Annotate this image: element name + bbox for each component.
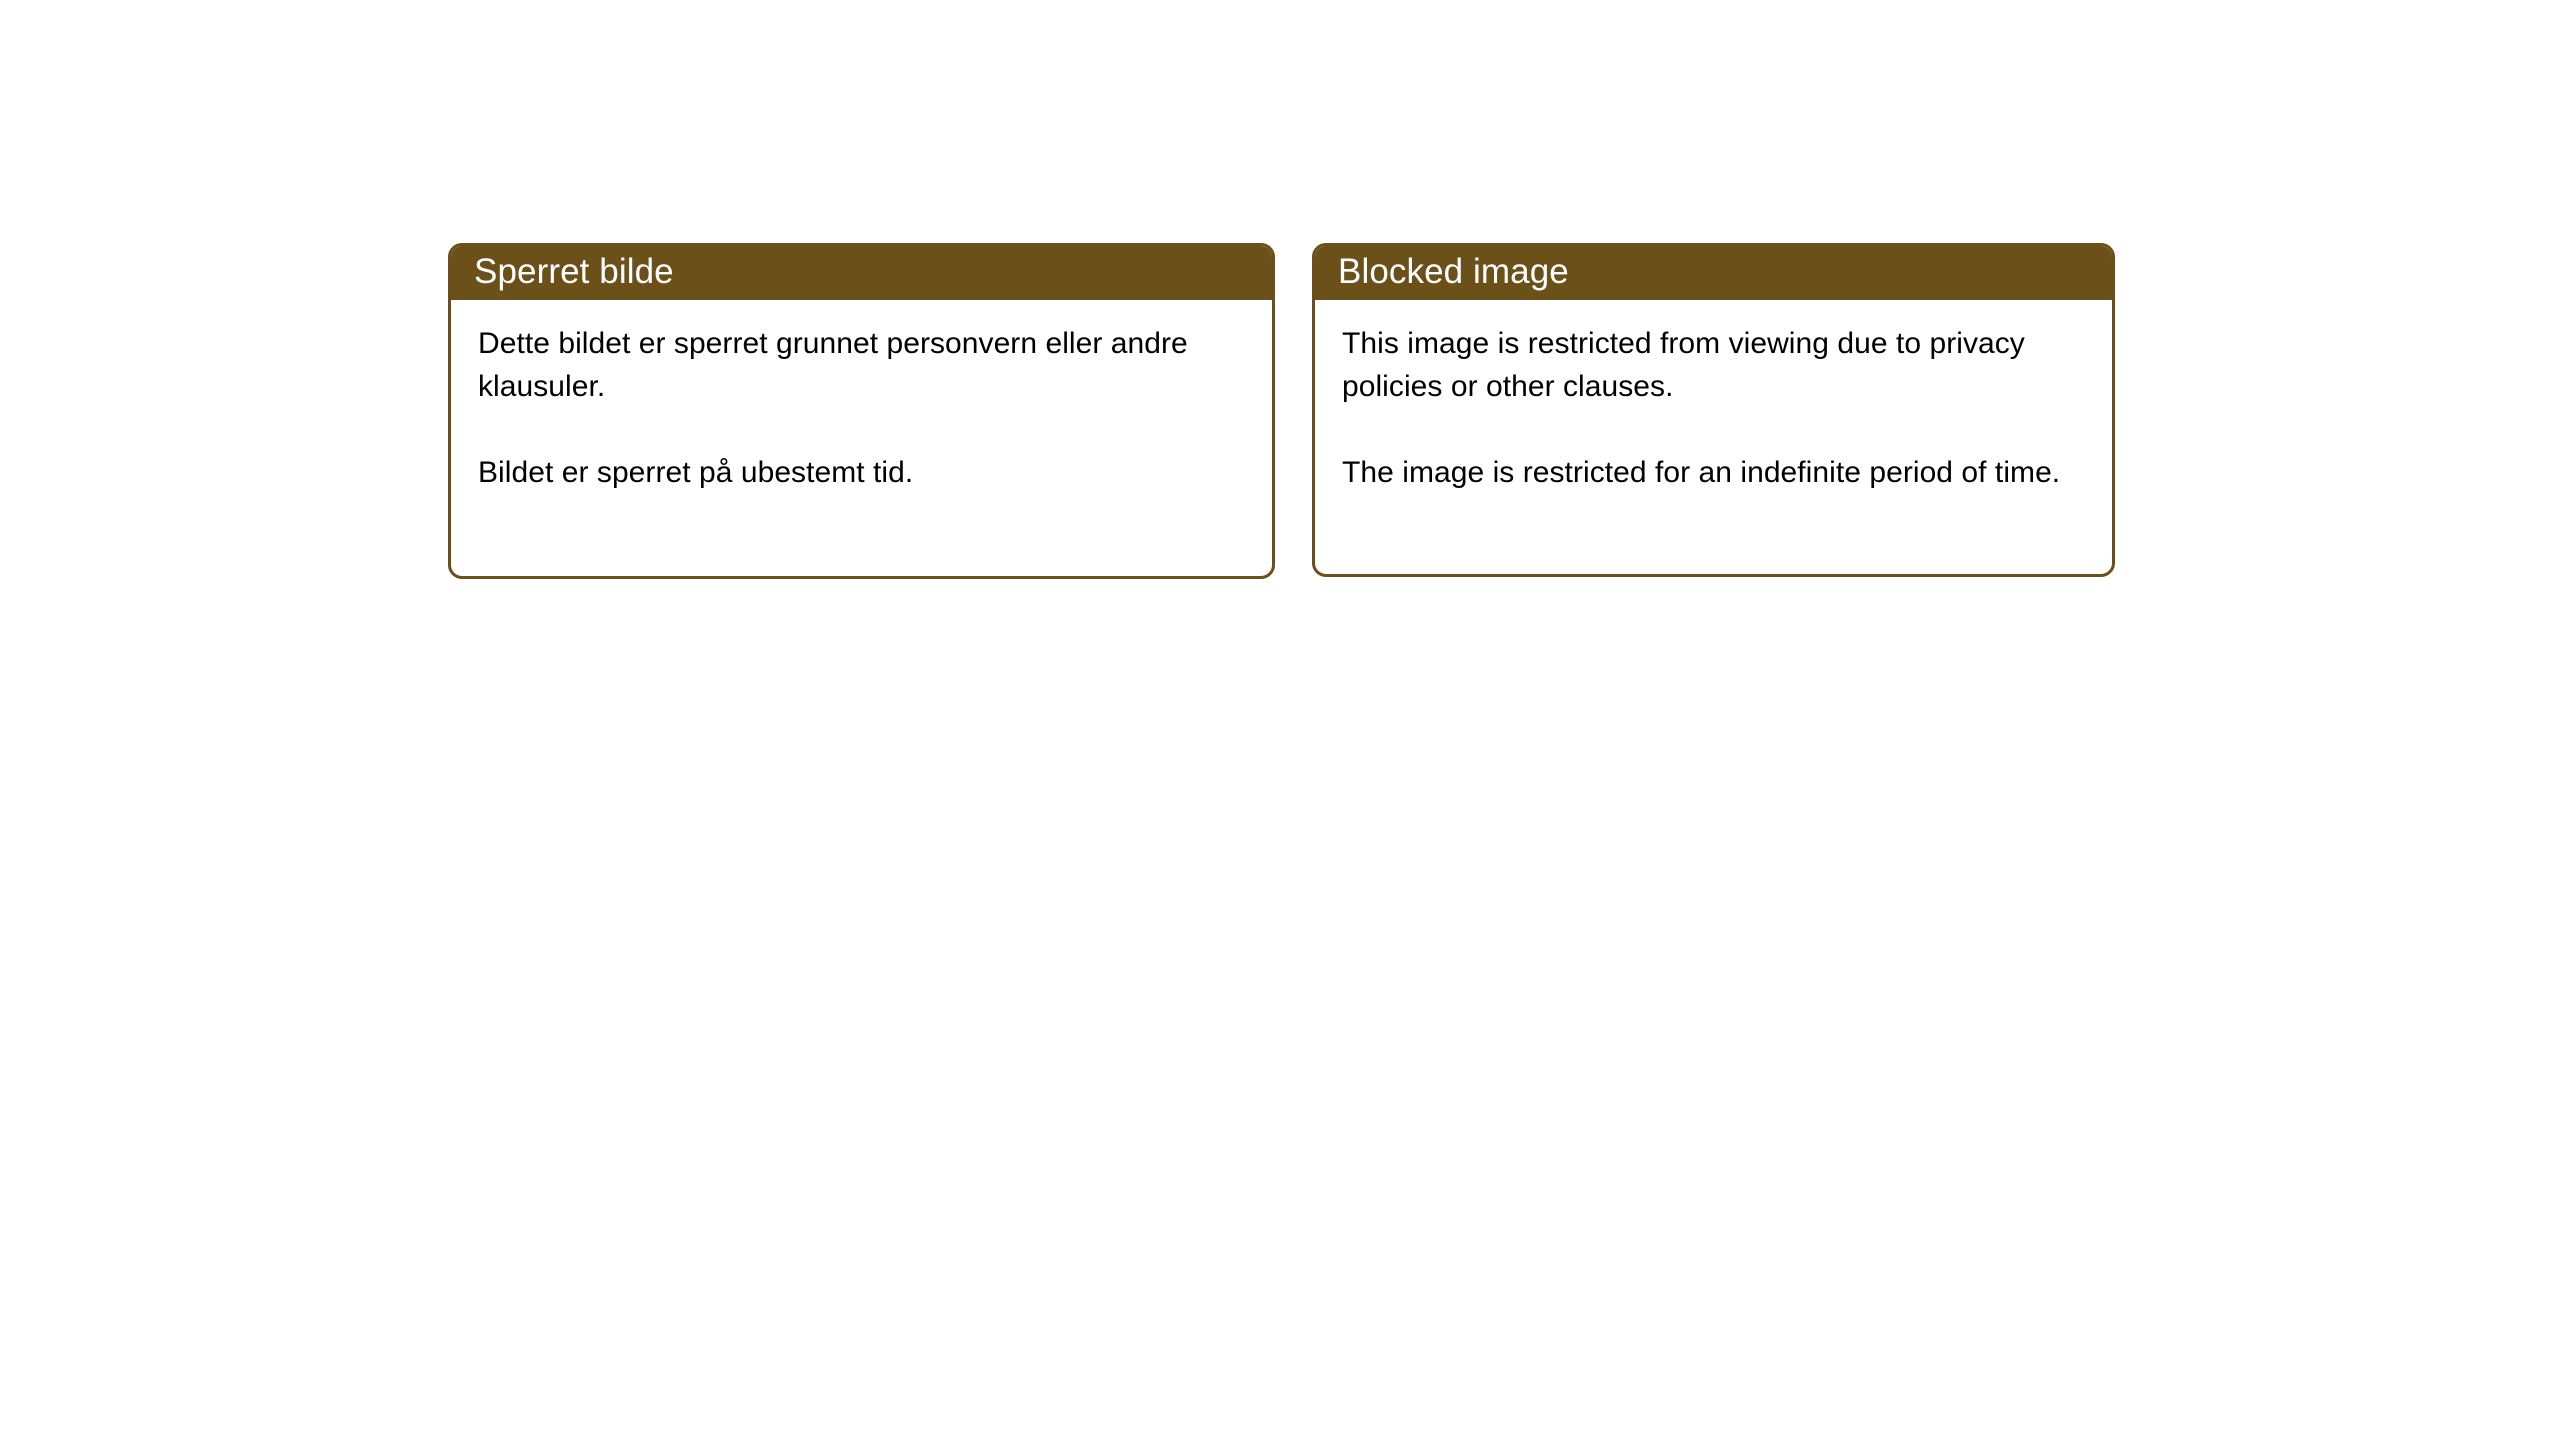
blocked-image-notice-card-english: Blocked image This image is restricted f…	[1312, 243, 2115, 577]
card-header-norwegian: Sperret bilde	[448, 243, 1275, 300]
card-header-english: Blocked image	[1312, 243, 2115, 300]
card-body-english: This image is restricted from viewing du…	[1315, 300, 2112, 494]
card-paragraph-primary-english: This image is restricted from viewing du…	[1342, 322, 2086, 408]
card-title-english: Blocked image	[1338, 252, 1569, 292]
card-body-norwegian: Dette bildet er sperret grunnet personve…	[451, 300, 1272, 494]
page-root: Sperret bilde Dette bildet er sperret gr…	[0, 0, 2560, 1440]
blocked-image-notice-card-norwegian: Sperret bilde Dette bildet er sperret gr…	[448, 243, 1275, 579]
card-paragraph-secondary-english: The image is restricted for an indefinit…	[1342, 451, 2086, 494]
card-paragraph-primary-norwegian: Dette bildet er sperret grunnet personve…	[478, 322, 1246, 408]
card-paragraph-secondary-norwegian: Bildet er sperret på ubestemt tid.	[478, 451, 1246, 494]
card-title-norwegian: Sperret bilde	[474, 252, 674, 292]
